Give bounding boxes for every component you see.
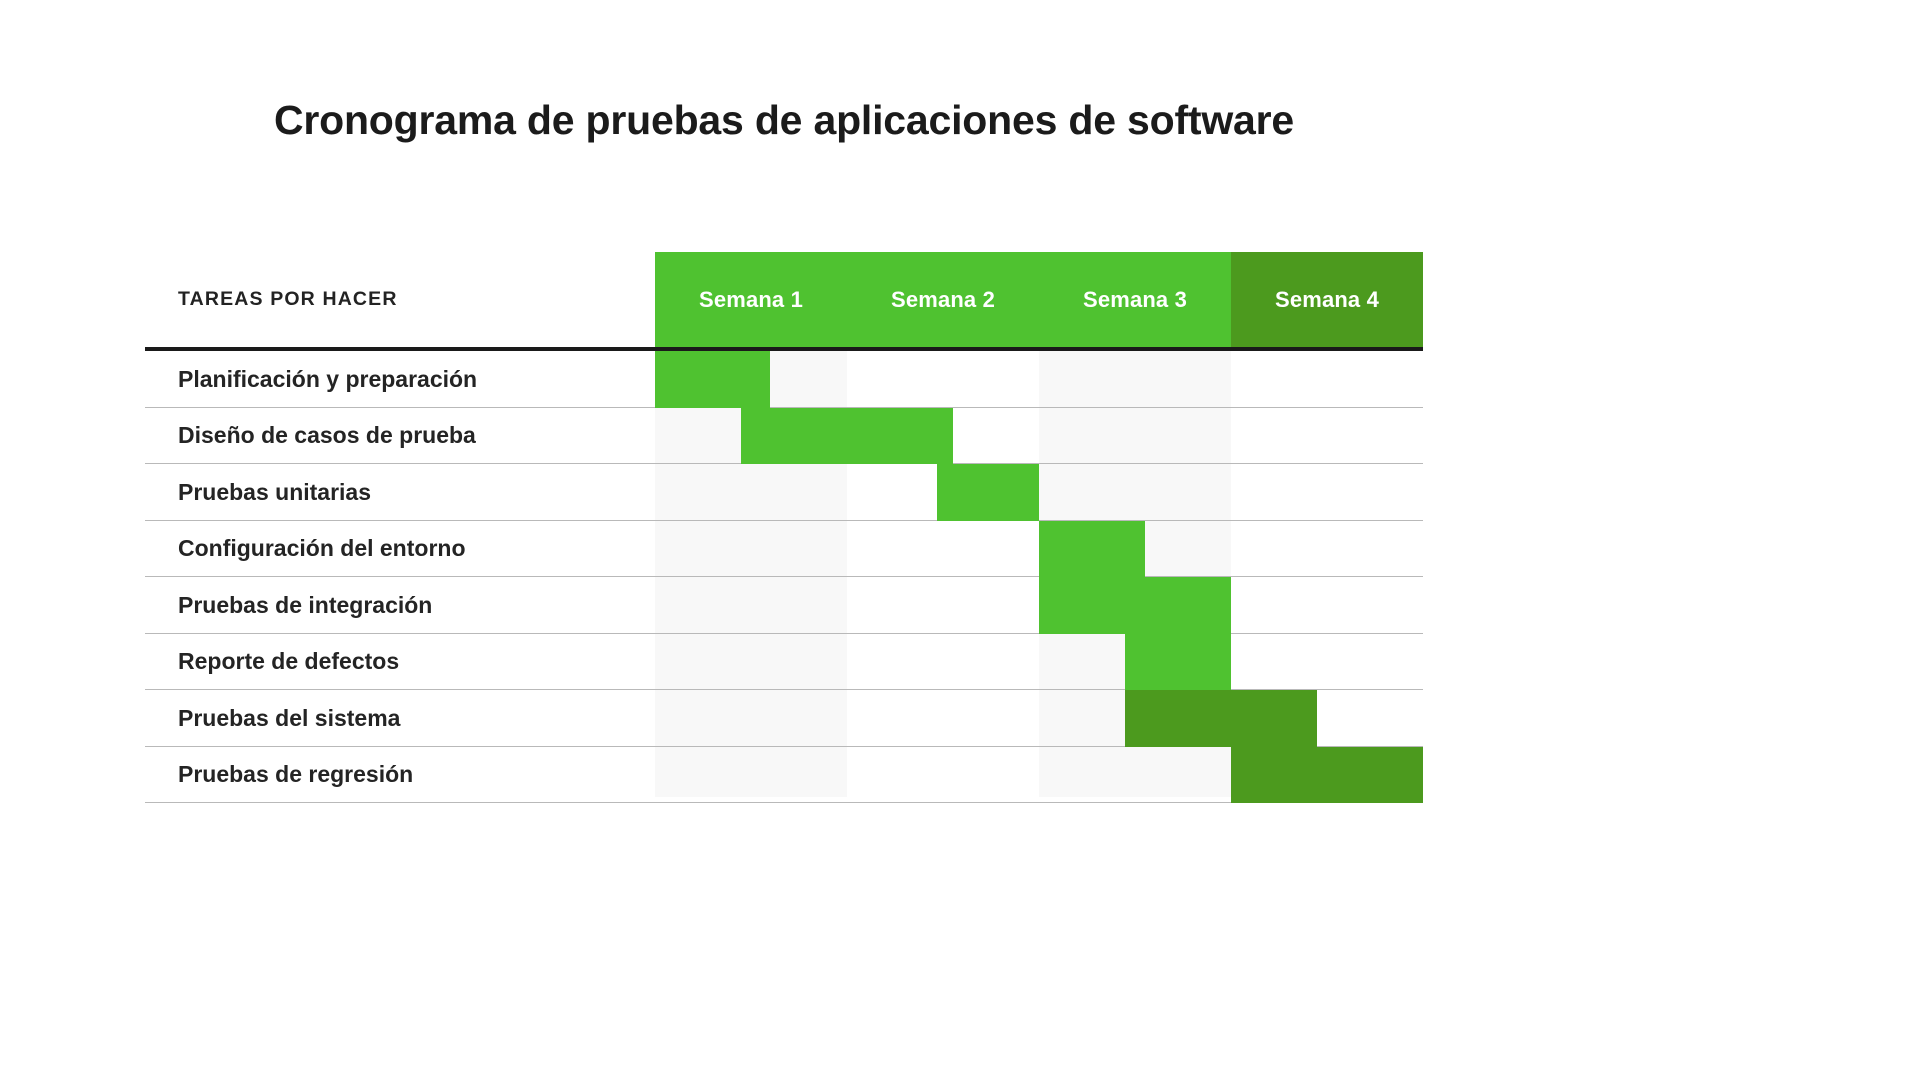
task-label: Pruebas unitarias [178,464,371,521]
gantt-bar[interactable] [1231,747,1423,804]
gantt-row: Pruebas de integración [145,577,1423,634]
gantt-header-row: TAREAS POR HACER Semana 1Semana 2Semana … [145,252,1423,347]
gantt-row: Pruebas del sistema [145,690,1423,747]
week-header-label: Semana 4 [1275,287,1379,313]
gantt-bar[interactable] [1039,521,1145,578]
gantt-row: Configuración del entorno [145,521,1423,578]
task-label: Diseño de casos de prueba [178,408,476,465]
gantt-table: TAREAS POR HACER Semana 1Semana 2Semana … [145,252,1423,797]
week-header-label: Semana 1 [699,287,803,313]
gantt-row: Reporte de defectos [145,634,1423,691]
gantt-row: Pruebas unitarias [145,464,1423,521]
task-label: Pruebas de integración [178,577,432,634]
gantt-bar[interactable] [937,464,1039,521]
task-label: Pruebas del sistema [178,690,400,747]
tasks-column-header: TAREAS POR HACER [145,252,655,347]
week-header-cell-2[interactable]: Semana 2 [847,252,1039,347]
gantt-row: Pruebas de regresión [145,747,1423,804]
page-title: Cronograma de pruebas de aplicaciones de… [0,97,1568,144]
header-divider-rule [145,347,1423,351]
task-label: Pruebas de regresión [178,747,413,804]
gantt-body: Planificación y preparaciónDiseño de cas… [145,351,1423,803]
gantt-bar[interactable] [655,351,770,408]
week-header-cell-1[interactable]: Semana 1 [655,252,847,347]
task-label: Reporte de defectos [178,634,399,691]
week-header-label: Semana 3 [1083,287,1187,313]
gantt-bar[interactable] [741,408,952,465]
tasks-column-header-label: TAREAS POR HACER [178,288,398,311]
task-label: Configuración del entorno [178,521,466,578]
gantt-row: Diseño de casos de prueba [145,408,1423,465]
week-header-cell-3[interactable]: Semana 3 [1039,252,1231,347]
week-header-label: Semana 2 [891,287,995,313]
gantt-row: Planificación y preparación [145,351,1423,408]
gantt-bar[interactable] [1039,577,1231,634]
week-header-cell-4[interactable]: Semana 4 [1231,252,1423,347]
task-label: Planificación y preparación [178,351,477,408]
gantt-bar[interactable] [1125,690,1317,747]
gantt-chart-page: Cronograma de pruebas de aplicaciones de… [0,0,1920,1080]
gantt-bar[interactable] [1125,634,1231,691]
